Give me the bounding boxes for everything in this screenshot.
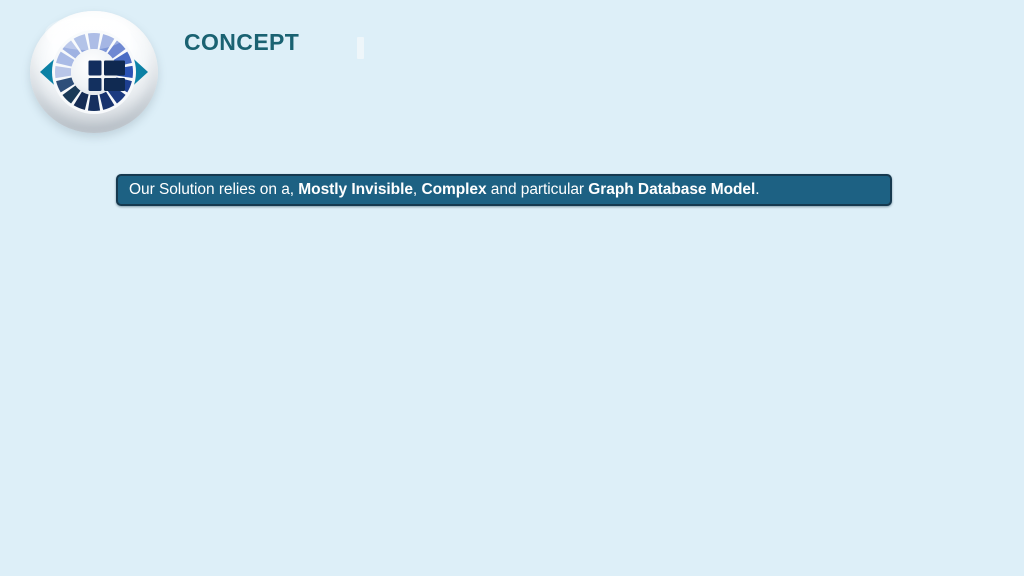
solution-callout-text: Our Solution relies on a, Mostly Invisib…: [129, 182, 760, 198]
eye-logo-icon: [30, 11, 158, 133]
slide-content-area: [0, 215, 1024, 576]
presentation-slide: CONCEPT Our Solution relies on a, Mostly…: [0, 0, 1024, 576]
callout-segment-3: Complex: [421, 181, 486, 198]
callout-segment-4: and particular: [487, 181, 589, 198]
callout-segment-1: Mostly Invisible: [298, 181, 413, 198]
slide-header: CONCEPT: [0, 0, 1024, 145]
text-caret: [357, 37, 364, 59]
callout-segment-5: Graph Database Model: [588, 181, 755, 198]
solution-callout-banner: Our Solution relies on a, Mostly Invisib…: [116, 174, 892, 206]
page-title: CONCEPT: [184, 31, 299, 54]
callout-segment-6: .: [755, 181, 759, 198]
callout-segment-0: Our Solution relies on a,: [129, 181, 298, 198]
brand-logo: [24, 7, 164, 135]
logo-gloss: [45, 16, 127, 50]
